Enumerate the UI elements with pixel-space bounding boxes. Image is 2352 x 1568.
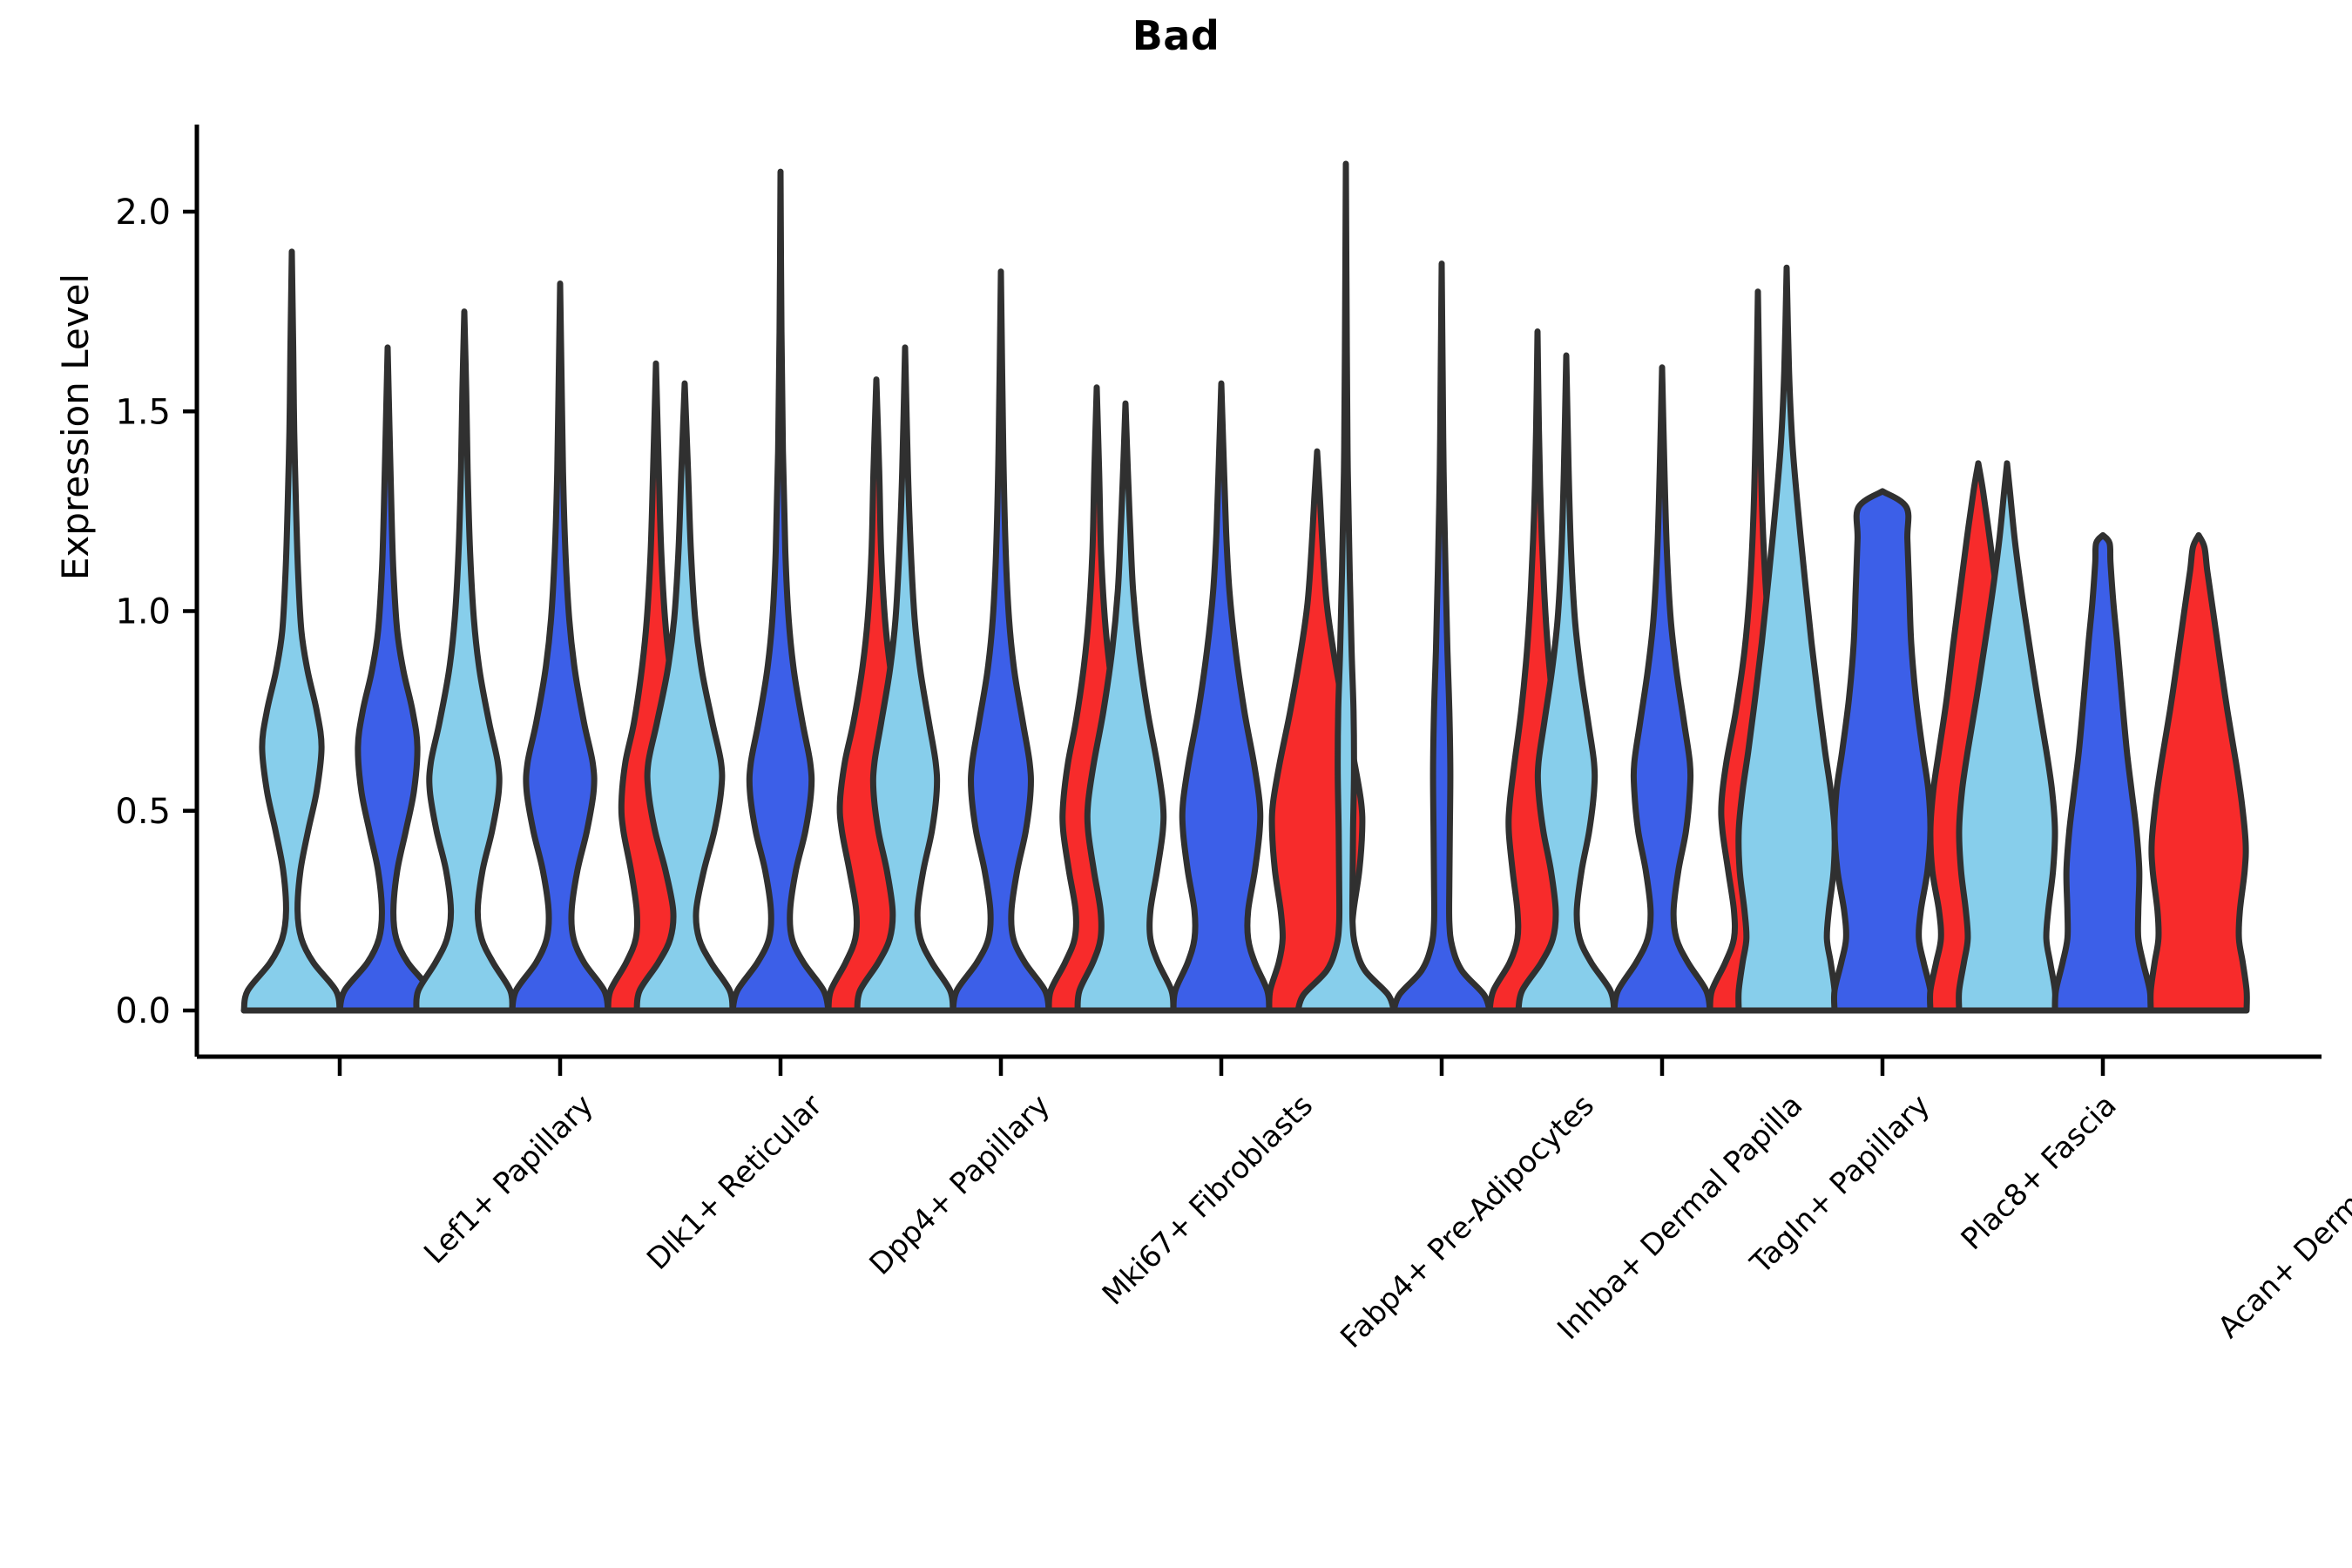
violin-shape bbox=[1173, 383, 1269, 1010]
violin-shape bbox=[512, 284, 608, 1010]
violin-group bbox=[1078, 383, 1365, 1010]
y-tick-label: 1.0 bbox=[115, 592, 171, 632]
violin-shape bbox=[244, 252, 340, 1010]
violin-shape bbox=[340, 348, 436, 1010]
violin-group bbox=[1298, 164, 1585, 1010]
plot-canvas: 0.00.51.01.52.0 bbox=[0, 0, 2352, 1568]
violin-group bbox=[637, 172, 924, 1010]
violin-group bbox=[1959, 463, 2247, 1010]
y-tick-label: 1.5 bbox=[115, 392, 171, 432]
violin-shape bbox=[1614, 368, 1710, 1010]
violin-plot-figure: Bad Expression Level 0.00.51.01.52.0 Lef… bbox=[0, 0, 2352, 1568]
violin-shape bbox=[416, 312, 512, 1010]
violin-shape bbox=[733, 172, 828, 1010]
y-tick-label: 2.0 bbox=[115, 193, 171, 233]
y-tick-label: 0.5 bbox=[115, 792, 171, 832]
violin-group bbox=[244, 252, 436, 1010]
y-tick-label: 0.0 bbox=[115, 991, 171, 1031]
violin-shape bbox=[2055, 535, 2151, 1010]
violin-shape bbox=[2151, 535, 2247, 1010]
violin-shape bbox=[953, 272, 1049, 1010]
violin-shape bbox=[1834, 491, 1930, 1010]
violin-shape bbox=[1394, 264, 1490, 1010]
violin-group bbox=[416, 284, 704, 1010]
